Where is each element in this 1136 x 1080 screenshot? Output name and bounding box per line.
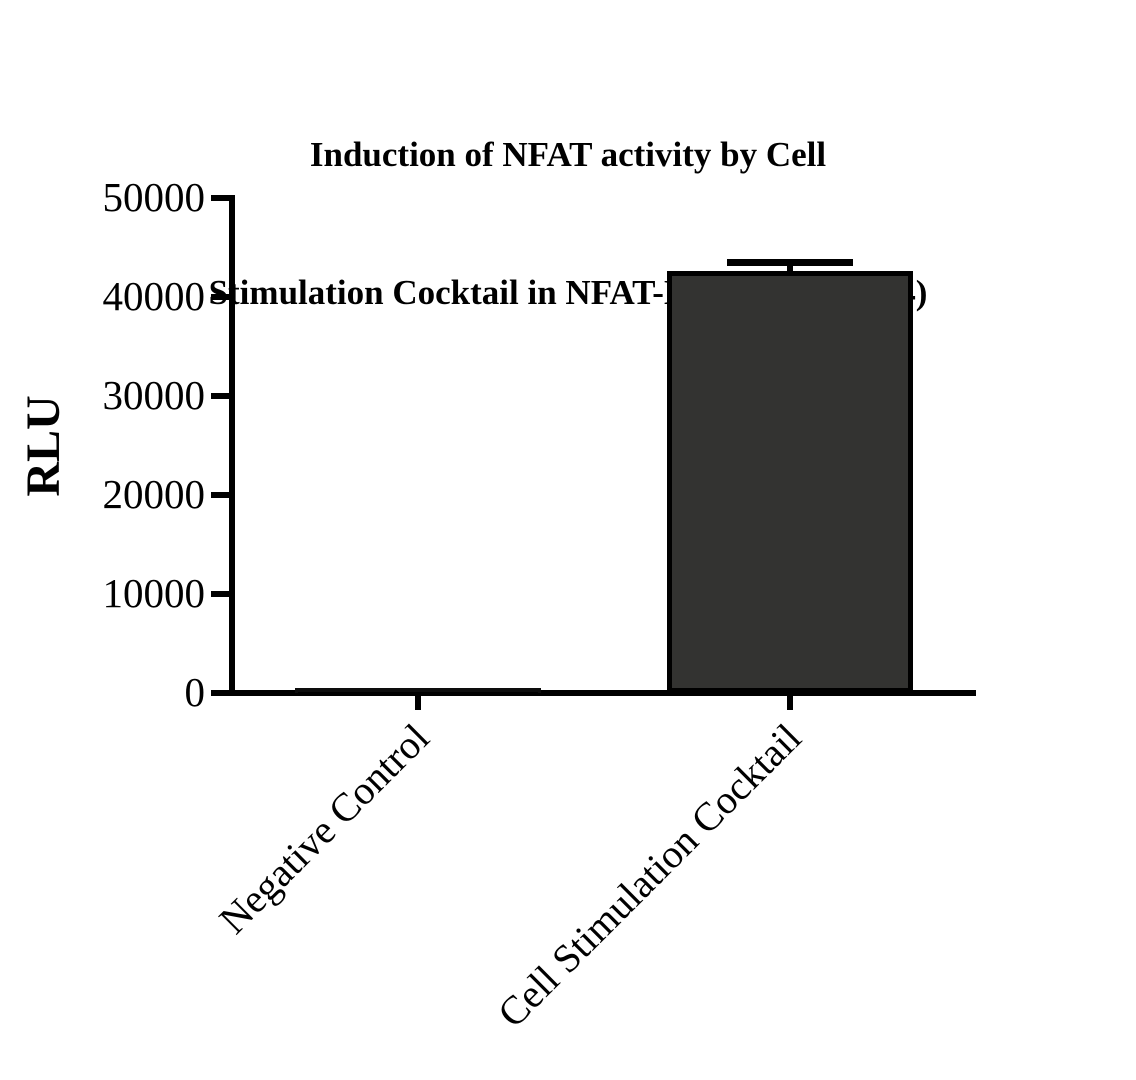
y-axis-title: RLU [20,395,68,496]
y-axis-tick [211,690,231,696]
chart-title: Induction of NFAT activity by Cell Stimu… [0,40,1136,408]
chart-figure: Induction of NFAT activity by Cell Stimu… [0,0,1136,1080]
y-axis-tick-label: 10000 [0,573,205,614]
y-axis-tick-label: 40000 [0,276,205,317]
bar [295,688,541,693]
bar [667,271,913,693]
error-bar-cap [727,259,853,266]
y-axis-tick [211,393,231,399]
y-axis-tick-label: 0 [0,672,205,713]
chart-title-line-1: Induction of NFAT activity by Cell [0,132,1136,178]
x-axis-tick [787,690,793,710]
x-axis-tick [415,690,421,710]
y-axis-tick [211,591,231,597]
y-axis-tick [211,294,231,300]
y-axis-tick [211,195,231,201]
x-axis-category-label: Cell Stimulation Cocktail [491,717,808,1034]
y-axis-tick-label: 50000 [0,177,205,218]
y-axis-tick [211,492,231,498]
y-axis-line [229,195,235,696]
x-axis-category-label: Negative Control [212,717,436,941]
